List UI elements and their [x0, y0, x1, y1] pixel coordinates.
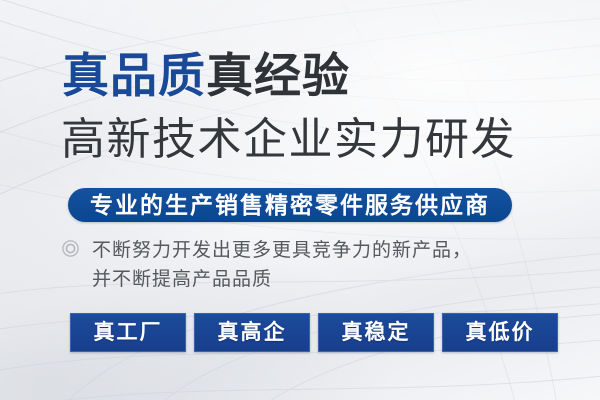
- tagline-pill-text: 专业的生产销售精密零件服务供应商: [90, 194, 490, 217]
- badge-stable[interactable]: 真稳定: [318, 313, 434, 352]
- badge-real-factory[interactable]: 真工厂: [70, 313, 186, 352]
- concentric-ring-icon: [62, 240, 79, 257]
- badge-row: 真工厂 真高企 真稳定 真低价: [70, 313, 558, 352]
- bullet-text: 不断努力开发出更多更具竞争力的新产品， 并不断提高产品品质: [92, 236, 532, 294]
- headline-line1: 真品质真经验: [62, 48, 350, 104]
- badge-label: 真稳定: [342, 322, 411, 343]
- tagline-pill: 专业的生产销售精密零件服务供应商: [68, 188, 512, 222]
- badge-high-tech-enterprise[interactable]: 真高企: [194, 313, 310, 352]
- headline-dark-text: 真经验: [206, 49, 350, 102]
- badge-label: 真工厂: [94, 322, 163, 343]
- bullet-text-line-2: 并不断提高产品品质: [92, 265, 532, 294]
- bullet-text-line-1: 不断努力开发出更多更具竞争力的新产品，: [92, 236, 532, 265]
- badge-low-price[interactable]: 真低价: [442, 313, 558, 352]
- bullet-block: 不断努力开发出更多更具竞争力的新产品， 并不断提高产品品质: [62, 236, 532, 294]
- headline-line2: 高新技术企业实力研发: [61, 114, 516, 166]
- badge-label: 真低价: [466, 322, 535, 343]
- badge-label: 真高企: [218, 322, 287, 343]
- promo-banner: 真品质真经验 高新技术企业实力研发 专业的生产销售精密零件服务供应商 不断努力开…: [0, 0, 600, 400]
- headline-accent-text: 真品质: [62, 49, 206, 102]
